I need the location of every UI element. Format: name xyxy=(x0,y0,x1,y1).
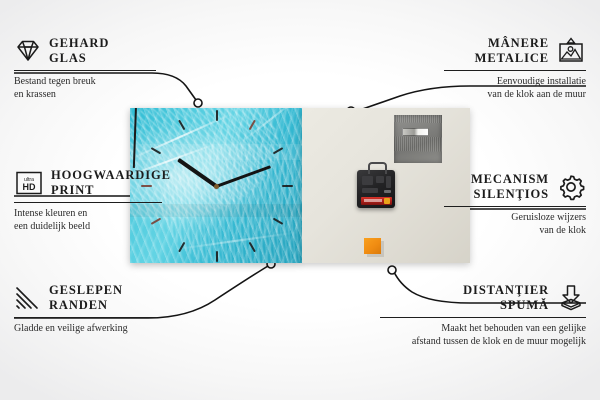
feature-title: GEHARD GLAS xyxy=(49,36,109,66)
gear-icon xyxy=(556,173,586,201)
feature-desc-line2: van de klok xyxy=(444,224,586,237)
clock-movement xyxy=(357,170,395,208)
feature-desc-line1: Eenvoudige installatie xyxy=(444,75,586,88)
feature-mecanism-silentios: MECANISM SILENŢIOS Geruisloze wijzers va… xyxy=(444,172,586,237)
feature-title: MÂNERE METALICE xyxy=(475,36,549,66)
hour-tick xyxy=(216,110,218,121)
movement-detail xyxy=(376,176,384,183)
feature-desc-line2: van de klok aan de muur xyxy=(444,88,586,101)
feature-manere-metalice: MÂNERE METALICE Eenvoudige installatie v… xyxy=(444,36,586,101)
product-image xyxy=(130,108,470,263)
beveled-edge-icon xyxy=(14,285,42,311)
feature-gehard-glas: GEHARD GLAS Bestand tegen breuk en krass… xyxy=(14,36,156,101)
hour-tick xyxy=(273,218,284,225)
metal-hanger-plate xyxy=(394,115,442,163)
svg-text:HD: HD xyxy=(23,182,36,192)
feature-desc-line2: en krassen xyxy=(14,88,156,101)
movement-detail xyxy=(386,176,391,188)
feature-header: MECANISM SILENŢIOS xyxy=(444,172,586,202)
hour-tick xyxy=(273,147,284,154)
hour-hand xyxy=(177,158,217,188)
hour-tick xyxy=(249,242,256,253)
divider xyxy=(444,70,586,71)
diamond-icon xyxy=(14,38,42,64)
hour-tick xyxy=(151,147,162,154)
battery xyxy=(361,197,392,205)
feature-desc-line1: Maakt het behouden van een gelijke xyxy=(380,322,586,335)
hour-tick xyxy=(178,242,185,253)
infographic-canvas: GEHARD GLAS Bestand tegen breuk en krass… xyxy=(0,0,600,400)
keyhole-slot xyxy=(402,128,429,136)
movement-detail xyxy=(384,190,391,193)
feature-header: GEHARD GLAS xyxy=(14,36,156,66)
feature-header: GESLEPEN RANDEN xyxy=(14,283,157,313)
hour-tick xyxy=(216,251,218,262)
ultra-hd-icon: ultra HD xyxy=(14,170,44,196)
hour-tick xyxy=(282,185,293,187)
hour-tick xyxy=(249,120,256,131)
feature-desc-line1: Gladde en veilige afwerking xyxy=(14,322,157,335)
hanger-loop-icon xyxy=(368,162,387,174)
feature-desc-line2: afstand tussen de klok en de muur mogeli… xyxy=(380,335,586,348)
feature-desc-line2: een duidelijk beeld xyxy=(14,220,162,233)
minute-hand xyxy=(215,165,271,188)
divider xyxy=(14,317,157,318)
feature-desc-line1: Bestand tegen breuk xyxy=(14,75,156,88)
connector-dot-distantier-spuma xyxy=(388,266,396,274)
feature-desc-line1: Geruisloze wijzers xyxy=(444,211,586,224)
battery-label xyxy=(364,199,382,202)
feature-distantier-spuma: DISTANŢIER SPUMĂ Maakt het behouden van … xyxy=(380,283,586,348)
feature-title: MECANISM SILENŢIOS xyxy=(471,172,549,202)
feature-title: DISTANŢIER SPUMĂ xyxy=(463,283,549,313)
hour-tick xyxy=(178,120,185,131)
divider xyxy=(444,206,586,207)
down-arrow-pad-icon xyxy=(556,284,586,312)
center-cap xyxy=(214,184,219,189)
feature-header: MÂNERE METALICE xyxy=(444,36,586,66)
battery-plus-terminal xyxy=(384,198,390,204)
divider xyxy=(380,317,586,318)
movement-detail xyxy=(362,188,378,193)
connector-dot-gehard-glas xyxy=(194,99,202,107)
wall-hanging-frame-icon xyxy=(556,37,586,65)
foam-spacer xyxy=(364,238,381,254)
feature-title: GESLEPEN RANDEN xyxy=(49,283,123,313)
divider xyxy=(14,202,162,203)
feature-header: ultra HD HOOGWAARDIGE PRINT xyxy=(14,168,162,198)
feature-desc-line1: Intense kleuren en xyxy=(14,207,162,220)
movement-detail xyxy=(362,176,373,185)
feature-title: HOOGWAARDIGE PRINT xyxy=(51,168,171,198)
divider xyxy=(14,70,156,71)
feature-hoogwaardige-print: ultra HD HOOGWAARDIGE PRINT Intense kleu… xyxy=(14,168,162,233)
feature-geslepen-randen: GESLEPEN RANDEN Gladde en veilige afwerk… xyxy=(14,283,157,335)
feature-header: DISTANŢIER SPUMĂ xyxy=(380,283,586,313)
